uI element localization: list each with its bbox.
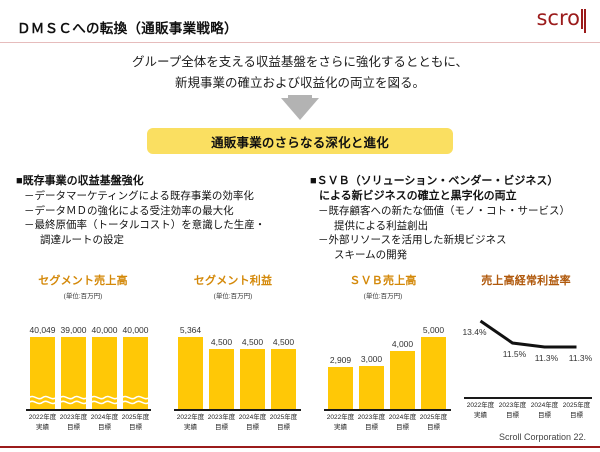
- page-title: ＤＭＳＣへの転換（通販事業戦略）: [17, 17, 238, 37]
- chart-axis-line: [26, 409, 151, 411]
- chart-x-axis-labels: 2022年度実績2023年度目標2024年度目標2025年度目標: [452, 401, 600, 425]
- chart-bar: [271, 349, 296, 409]
- chart-bar: [178, 337, 203, 409]
- chart-plot: 2,9093,0004,0005,000: [308, 303, 458, 411]
- chart-bar: [209, 349, 234, 409]
- bullet-item-cont: 提供による利益創出: [310, 219, 598, 234]
- highlight-banner: 通販事業のさらなる深化と進化: [147, 128, 453, 154]
- chart-x-axis-labels: 2022年度実績2023年度目標2024年度目標2025年度目標: [308, 413, 458, 437]
- chart-bar: [390, 351, 415, 409]
- footer-text: Scroll Corporation 22.: [499, 432, 586, 442]
- chart-x-axis-labels: 2022年度実績2023年度目標2024年度目標2025年度目標: [158, 413, 308, 437]
- lead-line-2: 新規事業の確立および収益化の両立を図る。: [0, 73, 600, 94]
- chart-point-value-label: 11.3%: [561, 353, 600, 363]
- chart-unit: (単位:百万円): [308, 290, 458, 300]
- chart-axis-line: [174, 409, 301, 411]
- chart-svb-sales: ＳＶＢ売上高 (単位:百万円) 2,9093,0004,0005,000 202…: [308, 272, 458, 442]
- charts-row: セグメント売上高 (単位:百万円) 40,04939,00040,00040,0…: [0, 272, 600, 442]
- slide-header: ＤＭＳＣへの転換（通販事業戦略） scro: [0, 0, 600, 44]
- bullet-heading-right-2: による新ビジネスの確立と黒字化の両立: [310, 189, 598, 204]
- bullets-existing-business: ■既存事業の収益基盤強化 －データマーケティングによる既存事業の効率化 －データ…: [16, 174, 308, 247]
- chart-title: セグメント売上高: [8, 272, 158, 288]
- chart-line-series: [452, 291, 600, 399]
- bullet-item: －最終原価率（トータルコスト）を意識した生産・: [16, 218, 308, 233]
- slide: ＤＭＳＣへの転換（通販事業戦略） scro グループ全体を支える収益基盤をさらに…: [0, 0, 600, 452]
- chart-title: ＳＶＢ売上高: [308, 272, 458, 288]
- chart-x-label: 2025年度目標: [555, 401, 599, 420]
- logo-mark-icon: [580, 8, 586, 33]
- chart-bar-value-label: 4,500: [264, 337, 304, 347]
- down-arrow-icon: [281, 98, 319, 120]
- lead-line-1: グループ全体を支える収益基盤をさらに強化するとともに、: [0, 52, 600, 73]
- bullet-heading-left: ■既存事業の収益基盤強化: [16, 174, 308, 189]
- chart-plot: 40,04939,00040,00040,000: [8, 303, 158, 411]
- chart-segment-sales: セグメント売上高 (単位:百万円) 40,04939,00040,00040,0…: [8, 272, 158, 442]
- scroll-logo: scro: [536, 8, 586, 33]
- bullet-item-cont: 調達ルートの設定: [16, 233, 308, 248]
- chart-bar-value-label: 5,000: [414, 325, 454, 335]
- chart-title: 売上高経常利益率: [452, 272, 600, 288]
- bullet-heading-right: ■ＳＶＢ（ソリューション・ベンダー・ビジネス）: [310, 174, 598, 189]
- chart-x-label: 2025年度目標: [114, 413, 158, 432]
- axis-break-squiggle-icon: [29, 393, 56, 407]
- chart-unit: (単位:百万円): [158, 290, 308, 300]
- chart-ordinary-profit-ratio: 売上高経常利益率 13.4%11.5%11.3%11.3% 2022年度実績20…: [452, 272, 600, 442]
- chart-bar: [359, 366, 384, 409]
- chart-bar: [240, 349, 265, 409]
- chart-point-value-label: 13.4%: [455, 327, 495, 337]
- chart-bar-value-label: 4,000: [383, 339, 423, 349]
- banner-label: 通販事業のさらなる深化と進化: [211, 132, 389, 151]
- header-divider: [0, 42, 600, 43]
- bullet-item: －外部リソースを活用した新規ビジネス: [310, 233, 598, 248]
- chart-plot: 5,3644,5004,5004,500: [158, 303, 308, 411]
- axis-break-squiggle-icon: [91, 393, 118, 407]
- bullets-svb-business: ■ＳＶＢ（ソリューション・ベンダー・ビジネス） による新ビジネスの確立と黒字化の…: [310, 174, 598, 262]
- chart-axis-line: [324, 409, 451, 411]
- chart-plot: 13.4%11.5%11.3%11.3%: [452, 291, 600, 399]
- chart-unit: (単位:百万円): [8, 290, 158, 300]
- axis-break-squiggle-icon: [60, 393, 87, 407]
- bullet-item: －データＭＤの強化による受注効率の最大化: [16, 204, 308, 219]
- bullet-item-cont: スキームの開発: [310, 248, 598, 263]
- chart-x-label: 2025年度目標: [262, 413, 306, 432]
- chart-segment-profit: セグメント利益 (単位:百万円) 5,3644,5004,5004,500 20…: [158, 272, 308, 442]
- footer-divider: [0, 446, 600, 448]
- chart-bar: [328, 367, 353, 409]
- axis-break-squiggle-icon: [122, 393, 149, 407]
- lead-text: グループ全体を支える収益基盤をさらに強化するとともに、 新規事業の確立および収益…: [0, 52, 600, 94]
- bullet-item: －既存顧客への新たな価値（モノ・コト・サービス）: [310, 204, 598, 219]
- logo-text: scro: [536, 6, 580, 30]
- chart-bar-value-label: 5,364: [171, 325, 211, 335]
- chart-x-axis-labels: 2022年度実績2023年度目標2024年度目標2025年度目標: [8, 413, 158, 437]
- chart-title: セグメント利益: [158, 272, 308, 288]
- chart-bar: [421, 337, 446, 409]
- chart-x-label: 2025年度目標: [412, 413, 456, 432]
- chart-bar-value-label: 3,000: [352, 354, 392, 364]
- bullet-item: －データマーケティングによる既存事業の効率化: [16, 189, 308, 204]
- chart-bar-value-label: 40,000: [116, 325, 156, 335]
